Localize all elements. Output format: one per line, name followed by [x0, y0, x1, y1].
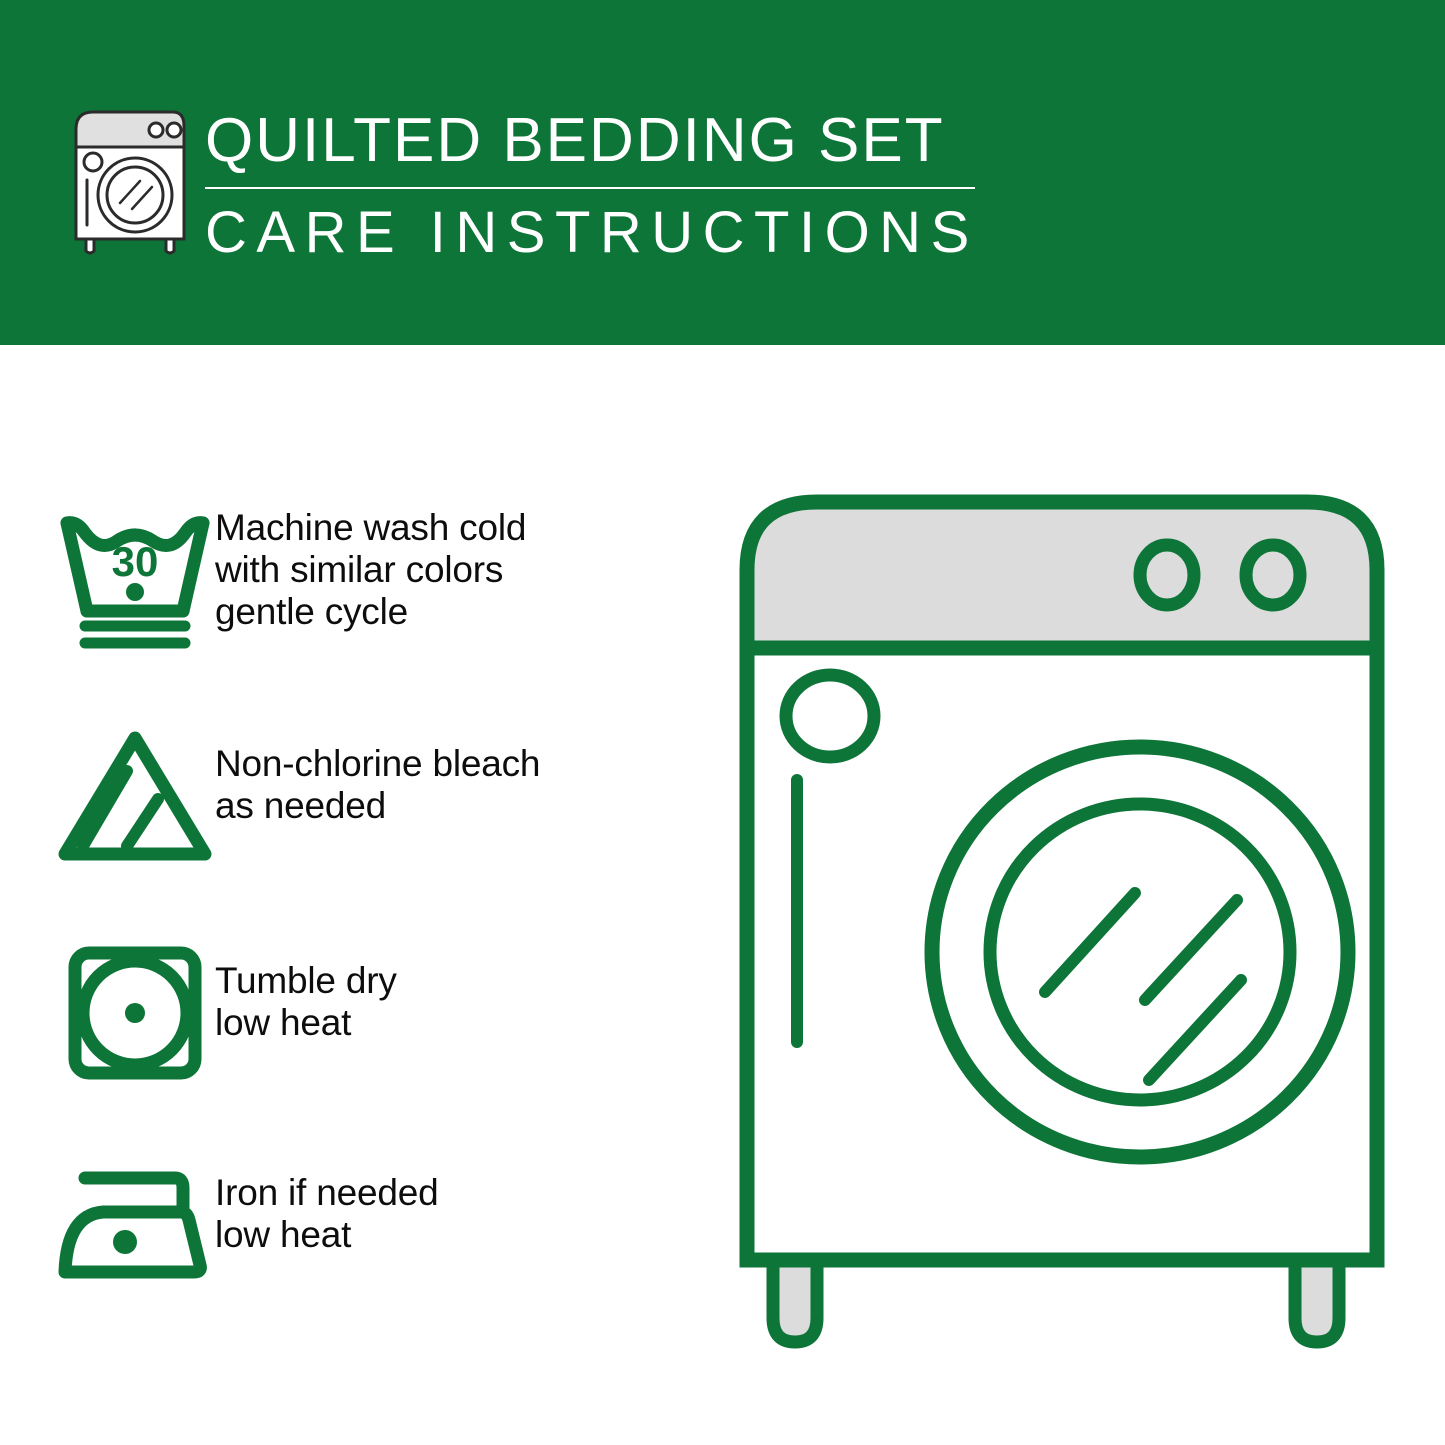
care-item-label: Iron if needed low heat [215, 1142, 438, 1256]
care-label-line: low heat [215, 1002, 397, 1044]
care-item-label: Machine wash cold with similar colors ge… [215, 495, 526, 633]
wash-tub-icon: 30 [0, 495, 215, 660]
washing-machine-icon [62, 103, 190, 255]
machine-knob-1 [1140, 545, 1194, 605]
iron-icon [0, 1142, 215, 1307]
care-symbol-list: 30 Machine wash cold with similar colors… [0, 345, 700, 1445]
care-item-label: Tumble dry low heat [215, 930, 397, 1044]
tumble-dry-icon [0, 930, 215, 1095]
bleach-triangle-icon [0, 713, 215, 878]
care-item-label: Non-chlorine bleach as needed [215, 713, 540, 827]
care-label-line: low heat [215, 1214, 438, 1256]
wash-temperature-value: 30 [112, 538, 159, 585]
care-label-line: Iron if needed [215, 1172, 438, 1214]
care-instructions-infographic: QUILTED BEDDING SET CARE INSTRUCTIONS 30 [0, 0, 1445, 1445]
washing-machine-illustration [725, 480, 1405, 1370]
page-subtitle: CARE INSTRUCTIONS [205, 198, 995, 268]
care-item-iron: Iron if needed low heat [0, 1142, 700, 1307]
header-band: QUILTED BEDDING SET CARE INSTRUCTIONS [0, 0, 1445, 345]
page-title: QUILTED BEDDING SET [205, 104, 995, 178]
machine-body [747, 648, 1377, 1260]
title-divider [205, 187, 975, 189]
care-label-line: Tumble dry [215, 960, 397, 1002]
care-label-line: as needed [215, 785, 540, 827]
care-item-bleach: Non-chlorine bleach as needed [0, 713, 700, 878]
care-label-line: Machine wash cold [215, 507, 526, 549]
care-item-tumble-dry: Tumble dry low heat [0, 930, 700, 1095]
machine-knob-2 [1246, 545, 1300, 605]
care-label-line: with similar colors [215, 549, 526, 591]
header-text-block: QUILTED BEDDING SET CARE INSTRUCTIONS [205, 104, 995, 268]
care-label-line: gentle cycle [215, 591, 526, 633]
care-item-machine-wash: 30 Machine wash cold with similar colors… [0, 495, 700, 660]
care-label-line: Non-chlorine bleach [215, 743, 540, 785]
